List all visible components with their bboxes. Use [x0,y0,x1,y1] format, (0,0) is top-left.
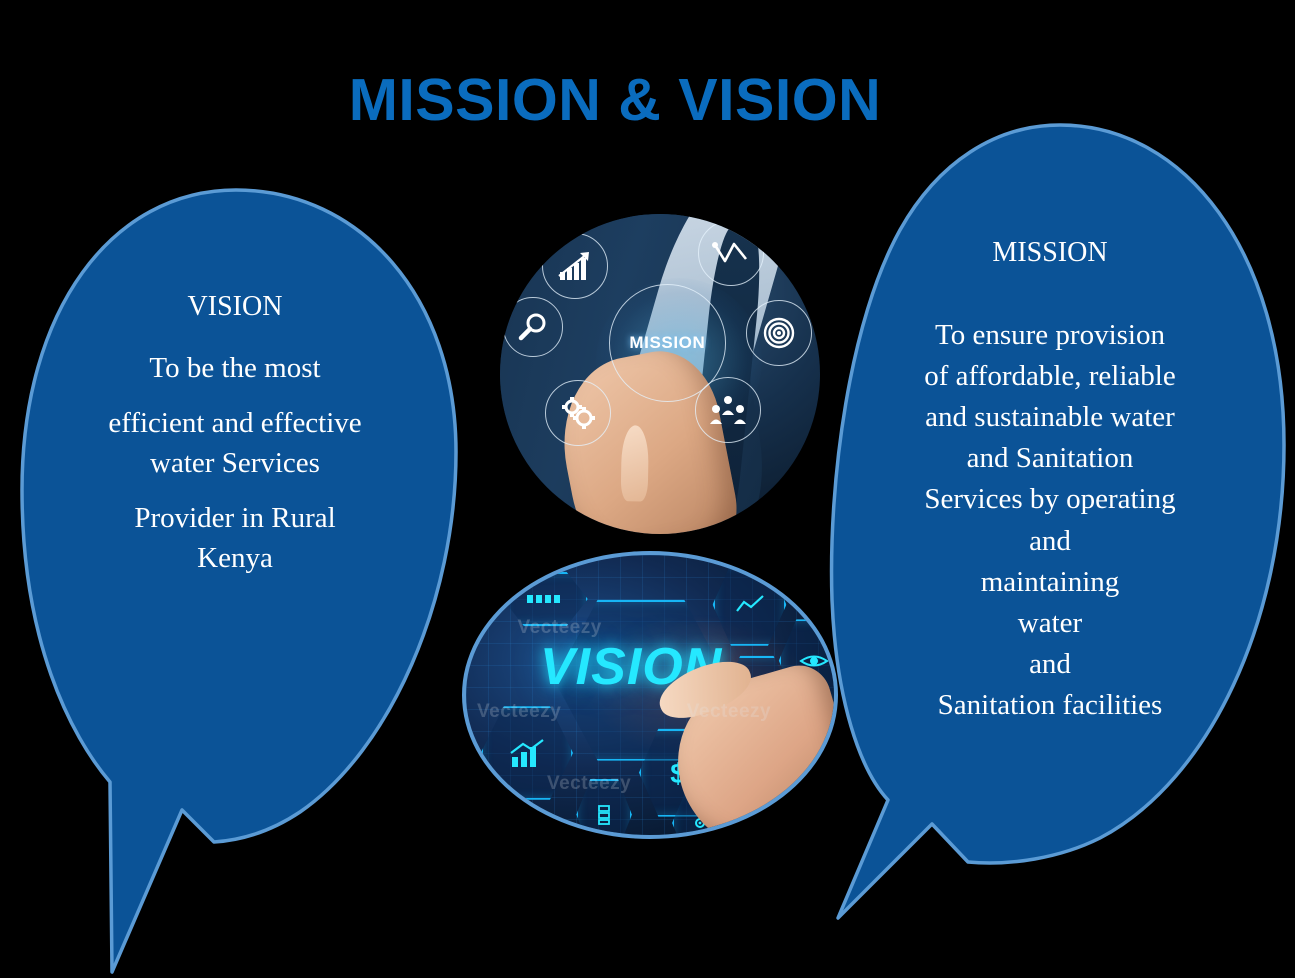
mission-line-5: Services by operating [855,479,1245,520]
mission-line-3: and sustainable water [855,397,1245,438]
vision-line-2: efficient and effective [40,404,430,443]
mission-hologram-label: MISSION [629,333,705,353]
vision-line-1: To be the most [40,349,430,388]
slide-canvas: MISSION & VISION VISION To be the most e… [0,0,1295,978]
vision-line-3: water Services [40,444,430,483]
bar-chart-growth-icon [542,233,608,299]
mission-line-10: Sanitation facilities [855,685,1245,726]
people-group-icon [695,377,761,443]
vision-heading: VISION [40,292,430,323]
vision-line-4: Provider in Rural [40,499,430,538]
gears-icon [545,380,611,446]
vision-photo: VISION $ [462,551,838,839]
mission-line-9: and [855,644,1245,685]
mission-heading: MISSION [855,238,1245,269]
vision-text-block: VISION To be the most efficient and effe… [40,292,430,578]
mission-line-1: To ensure provision [855,315,1245,356]
mission-line-6: and [855,521,1245,562]
mission-line-8: water [855,603,1245,644]
page-title: MISSION & VISION [0,66,1230,134]
mission-line-2: of affordable, reliable [855,356,1245,397]
mission-photo: MISSION [500,214,820,534]
index-finger-shape [621,424,650,500]
target-icon [746,300,812,366]
mission-line-7: maintaining [855,562,1245,603]
mission-text-block: MISSION To ensure provision of affordabl… [855,238,1245,727]
vision-line-5: Kenya [40,539,430,578]
mission-line-4: and Sanitation [855,438,1245,479]
magnifier-icon [503,297,563,357]
